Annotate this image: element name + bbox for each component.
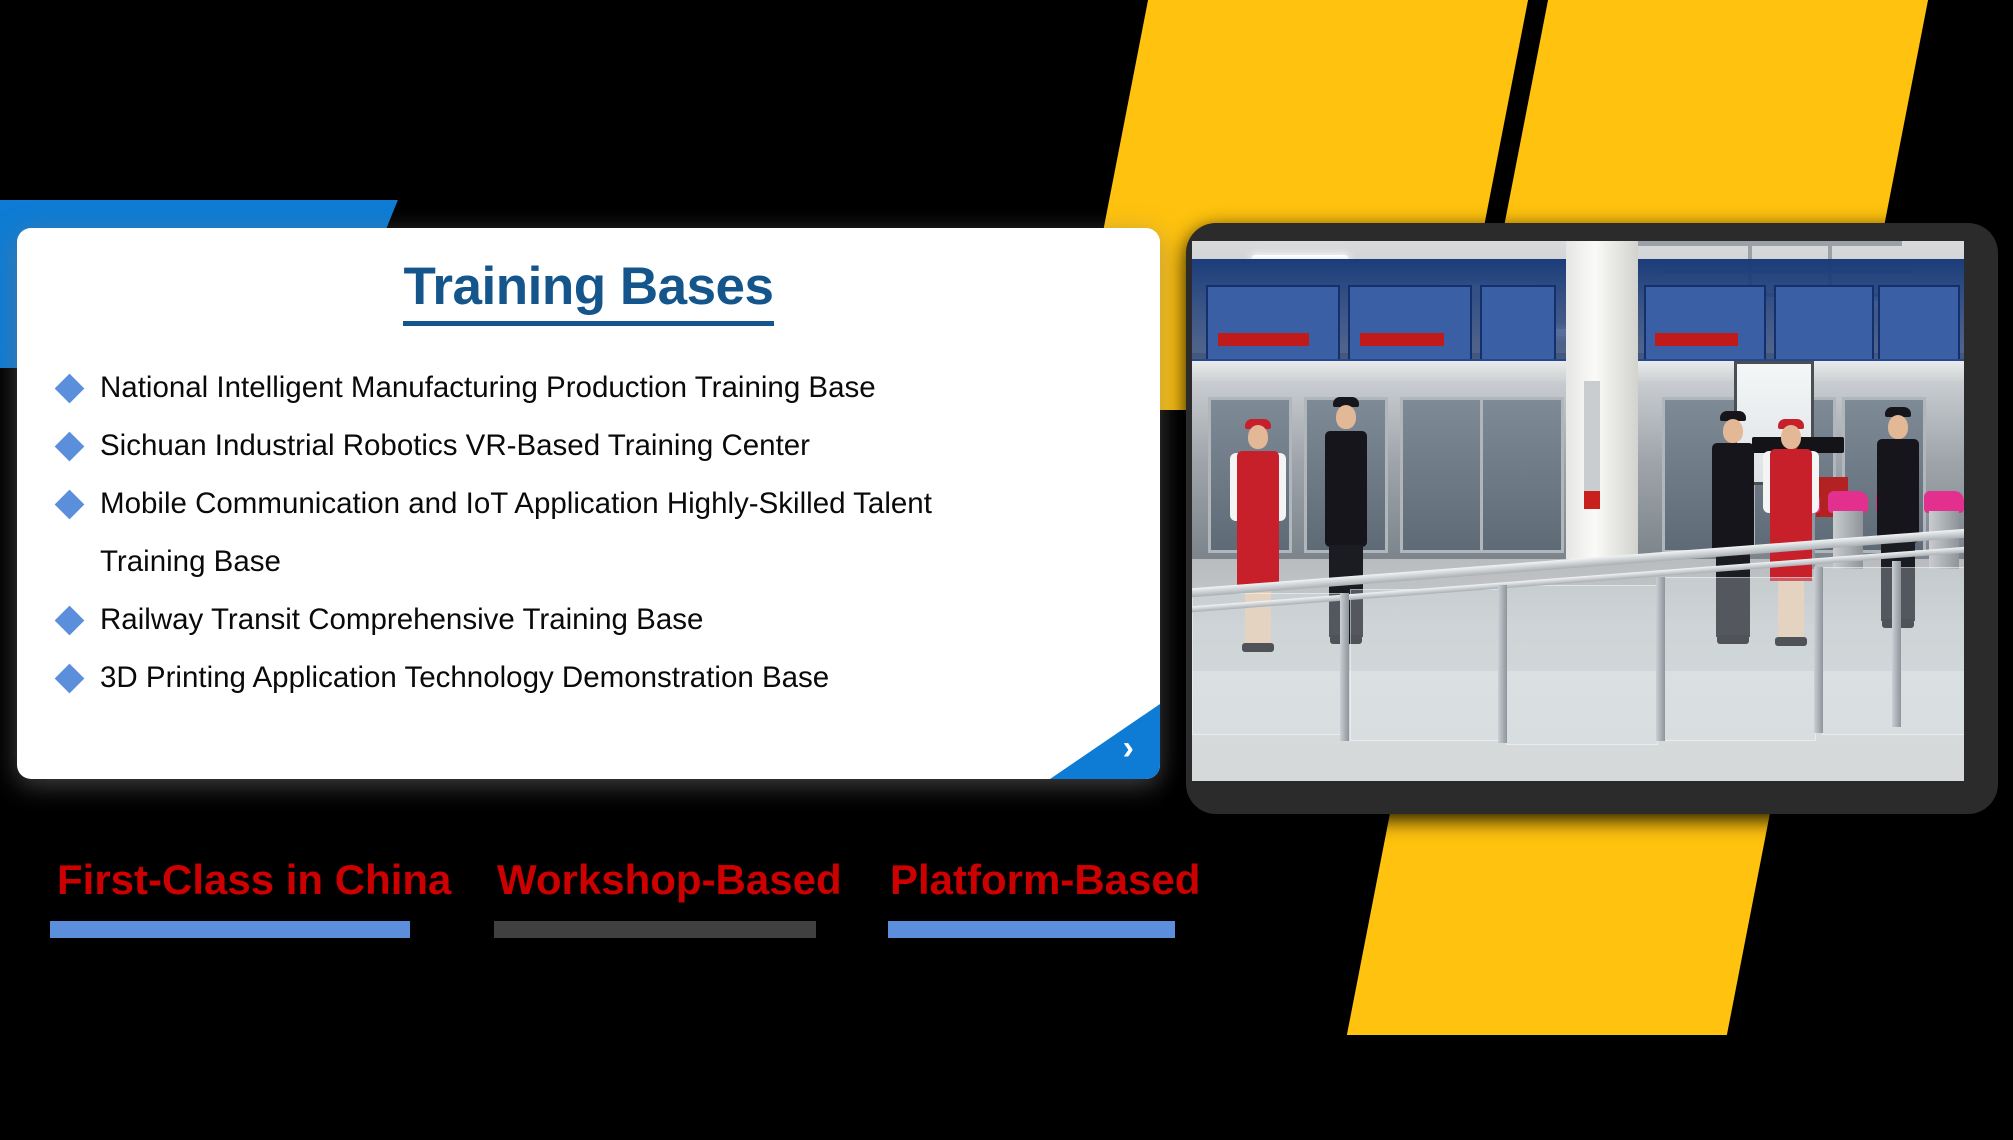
training-bases-card: Training Bases National Intelligent Manu… <box>17 228 1160 779</box>
poster-banner <box>1218 333 1309 346</box>
list-item: Sichuan Industrial Robotics VR-Based Tra… <box>59 423 1120 469</box>
photo-pillar <box>1566 241 1638 571</box>
uniform-jacket <box>1325 431 1367 547</box>
list-item: Mobile Communication and IoT Application… <box>59 481 1120 527</box>
diamond-bullet-icon <box>55 374 85 404</box>
list-item: National Intelligent Manufacturing Produ… <box>59 365 1120 411</box>
diamond-bullet-icon <box>55 432 85 462</box>
diamond-bullet-icon <box>55 606 85 636</box>
glass-balustrade <box>1350 589 1500 741</box>
train-door <box>1400 397 1484 553</box>
kicker-underline-bar <box>888 921 1175 938</box>
tablet-frame <box>1186 223 1998 814</box>
kicker-label-platform-based: Platform-Based <box>890 856 1200 904</box>
list-item-label: Training Base <box>100 539 281 585</box>
next-slide-button[interactable]: › <box>1050 704 1160 779</box>
training-base-photo <box>1192 241 1964 781</box>
uniform-jacket <box>1877 439 1919 543</box>
list-item: 3D Printing Application Technology Demon… <box>59 655 1120 701</box>
head <box>1888 415 1908 439</box>
poster-banner <box>1655 333 1738 346</box>
page-title: Training Bases <box>17 256 1160 326</box>
diamond-bullet-icon <box>55 664 85 694</box>
uniform-skirt <box>1237 539 1279 587</box>
diamond-bullet-icon <box>55 490 85 520</box>
list-item-label: 3D Printing Application Technology Demon… <box>100 655 829 701</box>
kicker-underline-bar <box>494 921 816 938</box>
glass-balustrade <box>1664 577 1816 741</box>
ceiling-pipe <box>1622 241 1902 246</box>
list-item-label: National Intelligent Manufacturing Produ… <box>100 365 876 411</box>
train-door <box>1480 397 1564 553</box>
kicker-label-workshop-based: Workshop-Based <box>497 856 842 904</box>
glass-balustrade <box>1192 593 1344 735</box>
rail-post <box>1814 567 1823 733</box>
slide-canvas: Training Bases National Intelligent Manu… <box>0 0 2013 1140</box>
list-item-continuation: Training Base <box>59 539 1120 585</box>
head <box>1336 405 1356 429</box>
rail-post <box>1892 561 1901 727</box>
kicker-underline-bar <box>50 921 410 938</box>
poster-banner <box>1360 333 1444 346</box>
head <box>1781 425 1801 449</box>
training-bases-list: National Intelligent Manufacturing Produ… <box>59 365 1120 713</box>
list-item-label: Sichuan Industrial Robotics VR-Based Tra… <box>100 423 810 469</box>
emergency-handle <box>1584 491 1600 509</box>
rail-post <box>1498 585 1507 743</box>
kicker-label-first-class: First-Class in China <box>57 856 451 904</box>
list-item-label: Mobile Communication and IoT Application… <box>100 481 932 527</box>
glass-balustrade <box>1506 585 1658 745</box>
emergency-box <box>1584 381 1600 491</box>
list-item: Railway Transit Comprehensive Training B… <box>59 597 1120 643</box>
rail-post <box>1656 577 1665 741</box>
uniform-vest <box>1770 449 1812 549</box>
list-item-label: Railway Transit Comprehensive Training B… <box>100 597 703 643</box>
rail-post <box>1340 593 1349 741</box>
page-title-text: Training Bases <box>403 256 773 326</box>
head <box>1248 425 1268 449</box>
chevron-right-icon: › <box>1123 731 1134 765</box>
